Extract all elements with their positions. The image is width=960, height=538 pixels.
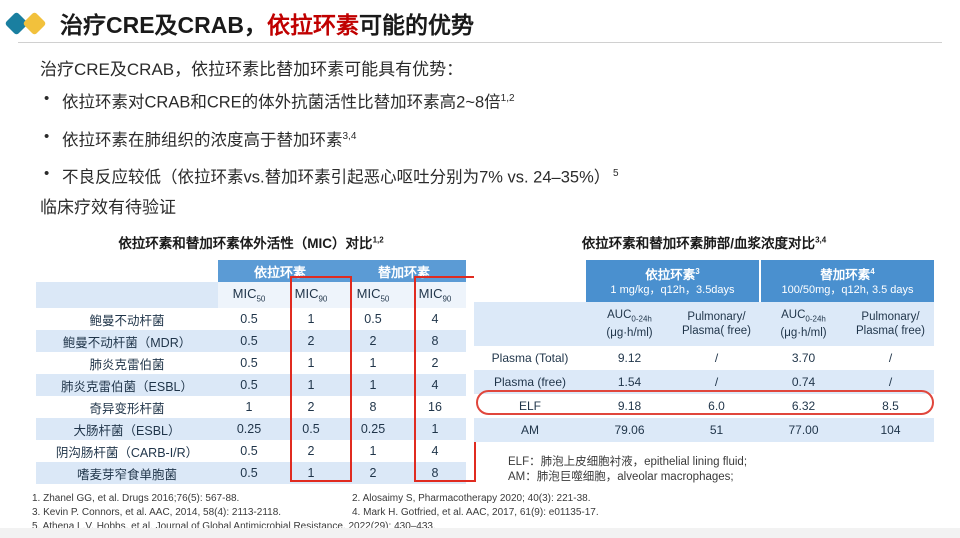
pk-group-dose: 1 mg/kg，q12h，3.5days: [588, 283, 757, 297]
mic-cell: 0.25: [342, 418, 404, 440]
pk-table-title-ref: 3,4: [815, 236, 826, 245]
mic-row-name: 奇异变形杆菌: [36, 396, 218, 418]
mic-cell: 4: [404, 440, 466, 462]
abbr-am: AM：肺泡巨噬细胞，alveolar macrophages;: [508, 470, 747, 485]
pk-cell: 3.70: [760, 346, 847, 370]
pk-table-block: 依拉环素和替加环素肺部/血浆浓度对比3,4 依拉环素3 1 mg/kg，q12h…: [474, 232, 934, 442]
bottom-strip: [0, 528, 960, 538]
table-subheader-row: AUC0-24h (μg·h/ml) Pulmonary/ Plasma( fr…: [474, 302, 934, 346]
mic-cell: 1: [342, 374, 404, 396]
mic-cell: 0.5: [218, 330, 280, 352]
mic-cell: 4: [404, 308, 466, 330]
mic-cell: 1: [218, 396, 280, 418]
pk-group-tigecycline: 替加环素4 100/50mg，q12h, 3.5 days: [760, 260, 934, 302]
pk-row-name: ELF: [474, 394, 586, 418]
mic-col-tig-mic50: MIC50: [342, 282, 404, 308]
pk-col-tig-ratio: Pulmonary/ Plasma( free): [847, 302, 934, 346]
pk-col-tig-auc: AUC0-24h (μg·h/ml): [760, 302, 847, 346]
mic-cell: 2: [342, 462, 404, 484]
table-header-group-row: 依拉环素 替加环素: [36, 260, 466, 282]
pk-cell: 6.32: [760, 394, 847, 418]
mic-cell: 8: [342, 396, 404, 418]
pk-cell: 9.12: [586, 346, 673, 370]
pk-cell: 6.0: [673, 394, 760, 418]
mic-cell: 1: [280, 462, 342, 484]
pk-cell: 8.5: [847, 394, 934, 418]
pk-table-title: 依拉环素和替加环素肺部/血浆浓度对比3,4: [474, 232, 934, 252]
mic-row-name: 大肠杆菌（ESBL）: [36, 418, 218, 440]
mic-cell: 0.5: [218, 352, 280, 374]
mic-cell: 1: [404, 418, 466, 440]
mic-corner-cell: [36, 260, 218, 282]
mic-col-era-mic90: MIC90: [280, 282, 342, 308]
footnote-3: 3. Kevin P. Connors, et al. AAC, 2014, 5…: [32, 506, 352, 520]
mic-group-eravacycline: 依拉环素: [218, 260, 342, 282]
table-row: 鲍曼不动杆菌（MDR） 0.5 2 2 8: [36, 330, 466, 352]
pk-cell: /: [847, 346, 934, 370]
footnote-row: 3. Kevin P. Connors, et al. AAC, 2014, 5…: [32, 506, 932, 520]
table-header-group-row: 依拉环素3 1 mg/kg，q12h，3.5days 替加环素4 100/50m…: [474, 260, 934, 302]
bullet-ref: 1,2: [501, 93, 515, 104]
bullet-marker-icon: •: [44, 88, 62, 114]
mic-col-tig-mic90: MIC90: [404, 282, 466, 308]
table-row: 奇异变形杆菌 1 2 8 16: [36, 396, 466, 418]
mic-cell: 8: [404, 330, 466, 352]
table-row: 鲍曼不动杆菌 0.5 1 0.5 4: [36, 308, 466, 330]
pk-row-name: Plasma (Total): [474, 346, 586, 370]
pk-comparison-table: 依拉环素3 1 mg/kg，q12h，3.5days 替加环素4 100/50m…: [474, 260, 934, 442]
table-row: Plasma (Total) 9.12 / 3.70 /: [474, 346, 934, 370]
title-part-before: 治疗CRE及CRAB，: [60, 12, 267, 38]
pk-group-eravacycline: 依拉环素3 1 mg/kg，q12h，3.5days: [586, 260, 760, 302]
mic-table-title-ref: 1,2: [373, 236, 384, 245]
mic-cell: 2: [280, 440, 342, 462]
table-row: Plasma (free) 1.54 / 0.74 /: [474, 370, 934, 394]
mic-cell: 16: [404, 396, 466, 418]
pk-col-era-ratio: Pulmonary/ Plasma( free): [673, 302, 760, 346]
pk-cell: /: [847, 370, 934, 394]
bullet-marker-icon: •: [44, 163, 62, 189]
list-item: • 不良反应较低（依拉环素vs.替加环素引起恶心呕吐分别为7% vs. 24–3…: [44, 163, 784, 189]
mic-row-name: 肺炎克雷伯菌: [36, 352, 218, 374]
mic-comparison-table: 依拉环素 替加环素 MIC50 MIC90 MIC50 MIC90 鲍曼不动杆菌…: [36, 260, 466, 484]
abbr-elf: ELF：肺泡上皮细胞衬液，epithelial lining fluid;: [508, 455, 747, 470]
pk-cell: /: [673, 346, 760, 370]
mic-cell: 0.5: [218, 374, 280, 396]
pk-col-era-auc: AUC0-24h (μg·h/ml): [586, 302, 673, 346]
mic-cell: 0.5: [280, 418, 342, 440]
mic-table-block: 依拉环素和替加环素体外活性（MIC）对比1,2 依拉环素 替加环素 MIC50 …: [36, 232, 466, 484]
table-row: 阴沟肠杆菌（CARB-I/R） 0.5 2 1 4: [36, 440, 466, 462]
title-part-after: 可能的优势: [359, 12, 474, 38]
mic-row-name: 鲍曼不动杆菌（MDR）: [36, 330, 218, 352]
mic-row-name: 鲍曼不动杆菌: [36, 308, 218, 330]
pk-cell: 77.00: [760, 418, 847, 442]
pk-cell: 1.54: [586, 370, 673, 394]
bullet-text: 依拉环素对CRAB和CRE的体外抗菌活性比替加环素高2~8倍1,2: [62, 88, 515, 114]
bullet-list: • 依拉环素对CRAB和CRE的体外抗菌活性比替加环素高2~8倍1,2 • 依拉…: [44, 88, 784, 201]
pk-cell: 79.06: [586, 418, 673, 442]
title-part-red: 依拉环素: [267, 12, 359, 38]
pk-cell: 9.18: [586, 394, 673, 418]
pk-row-name: AM: [474, 418, 586, 442]
bullet-text: 依拉环素在肺组织的浓度高于替加环素3,4: [62, 126, 356, 152]
list-item: • 依拉环素对CRAB和CRE的体外抗菌活性比替加环素高2~8倍1,2: [44, 88, 784, 114]
table-row: 嗜麦芽窄食单胞菌 0.5 1 2 8: [36, 462, 466, 484]
mic-cell: 1: [280, 352, 342, 374]
mic-cell: 8: [404, 462, 466, 484]
mic-cell: 2: [404, 352, 466, 374]
mic-cell: 1: [342, 440, 404, 462]
mic-subcorner-cell: [36, 282, 218, 308]
table-row: 肺炎克雷伯菌（ESBL） 0.5 1 1 4: [36, 374, 466, 396]
pk-group-name: 替加环素4: [763, 265, 932, 282]
table-row: 肺炎克雷伯菌 0.5 1 1 2: [36, 352, 466, 374]
mic-cell: 4: [404, 374, 466, 396]
mic-cell: 0.5: [218, 308, 280, 330]
table-row: AM 79.06 51 77.00 104: [474, 418, 934, 442]
pk-group-name: 依拉环素3: [588, 265, 757, 282]
mic-cell: 1: [280, 374, 342, 396]
closing-sentence: 临床疗效有待验证: [40, 193, 176, 218]
lead-sentence: 治疗CRE及CRAB，依拉环素比替加环素可能具有优势：: [40, 55, 463, 80]
slide-canvas: 治疗CRE及CRAB，依拉环素可能的优势 治疗CRE及CRAB，依拉环素比替加环…: [0, 0, 960, 538]
mic-col-era-mic50: MIC50: [218, 282, 280, 308]
logo-diamonds-icon: [0, 8, 60, 38]
pk-abbreviations: ELF：肺泡上皮细胞衬液，epithelial lining fluid; AM…: [508, 455, 747, 485]
bullet-ref: 3,4: [343, 131, 357, 142]
mic-cell: 2: [280, 330, 342, 352]
mic-cell: 1: [280, 308, 342, 330]
footnote-4: 4. Mark H. Gotfried, et al. AAC, 2017, 6…: [352, 506, 932, 520]
bullet-text: 不良反应较低（依拉环素vs.替加环素引起恶心呕吐分别为7% vs. 24–35%…: [62, 163, 619, 189]
page-title: 治疗CRE及CRAB，依拉环素可能的优势: [60, 6, 474, 40]
mic-row-name: 阴沟肠杆菌（CARB-I/R）: [36, 440, 218, 462]
pk-row-name: Plasma (free): [474, 370, 586, 394]
mic-row-name: 嗜麦芽窄食单胞菌: [36, 462, 218, 484]
mic-cell: 1: [342, 352, 404, 374]
pk-subcorner-cell: [474, 302, 586, 346]
pk-cell: /: [673, 370, 760, 394]
footnote-row: 1. Zhanel GG, et al. Drugs 2016;76(5): 5…: [32, 492, 932, 506]
mic-group-tigecycline: 替加环素: [342, 260, 466, 282]
table-row: 大肠杆菌（ESBL） 0.25 0.5 0.25 1: [36, 418, 466, 440]
pk-cell: 51: [673, 418, 760, 442]
bullet-ref: 5: [610, 168, 618, 179]
mic-cell: 0.5: [218, 462, 280, 484]
footnote-1: 1. Zhanel GG, et al. Drugs 2016;76(5): 5…: [32, 492, 352, 506]
title-divider: [18, 42, 942, 43]
pk-corner-cell: [474, 260, 586, 302]
footnote-2: 2. Alosaimy S, Pharmacotherapy 2020; 40(…: [352, 492, 932, 506]
list-item: • 依拉环素在肺组织的浓度高于替加环素3,4: [44, 126, 784, 152]
pk-group-dose: 100/50mg，q12h, 3.5 days: [763, 283, 932, 297]
mic-cell: 2: [342, 330, 404, 352]
mic-cell: 2: [280, 396, 342, 418]
pk-cell: 104: [847, 418, 934, 442]
mic-cell: 0.25: [218, 418, 280, 440]
mic-row-name: 肺炎克雷伯菌（ESBL）: [36, 374, 218, 396]
mic-cell: 0.5: [342, 308, 404, 330]
table-row-elf: ELF 9.18 6.0 6.32 8.5: [474, 394, 934, 418]
bullet-marker-icon: •: [44, 126, 62, 152]
slide-title-row: 治疗CRE及CRAB，依拉环素可能的优势: [0, 6, 960, 40]
mic-cell: 0.5: [218, 440, 280, 462]
pk-cell: 0.74: [760, 370, 847, 394]
table-subheader-row: MIC50 MIC90 MIC50 MIC90: [36, 282, 466, 308]
diamond-yellow-icon: [22, 11, 46, 35]
mic-table-title: 依拉环素和替加环素体外活性（MIC）对比1,2: [36, 232, 466, 252]
